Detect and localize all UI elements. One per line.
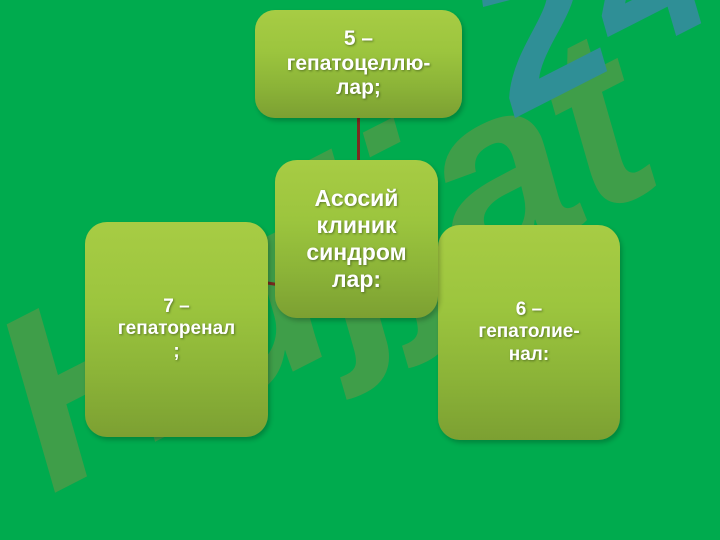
diagram-node-left-label: 7 – гепаторенал ; <box>93 296 260 363</box>
diagram-node-right-label: 6 – гепатолие- нал: <box>446 299 612 366</box>
diagram-node-top[interactable]: 5 – гепатоцеллю- лар; <box>255 10 462 118</box>
diagram-node-center[interactable]: Асосий клиник синдром лар: <box>275 160 438 318</box>
diagram-node-left[interactable]: 7 – гепаторенал ; <box>85 222 268 437</box>
watermark-text-24: 24 <box>426 0 720 159</box>
diagram-node-center-label: Асосий клиник синдром лар: <box>283 185 430 294</box>
slide-canvas: Hujjat 24 5 – гепатоцеллю- лар; 7 – гепа… <box>0 0 720 540</box>
diagram-node-right[interactable]: 6 – гепатолие- нал: <box>438 225 620 440</box>
diagram-node-top-label: 5 – гепатоцеллю- лар; <box>263 27 454 101</box>
